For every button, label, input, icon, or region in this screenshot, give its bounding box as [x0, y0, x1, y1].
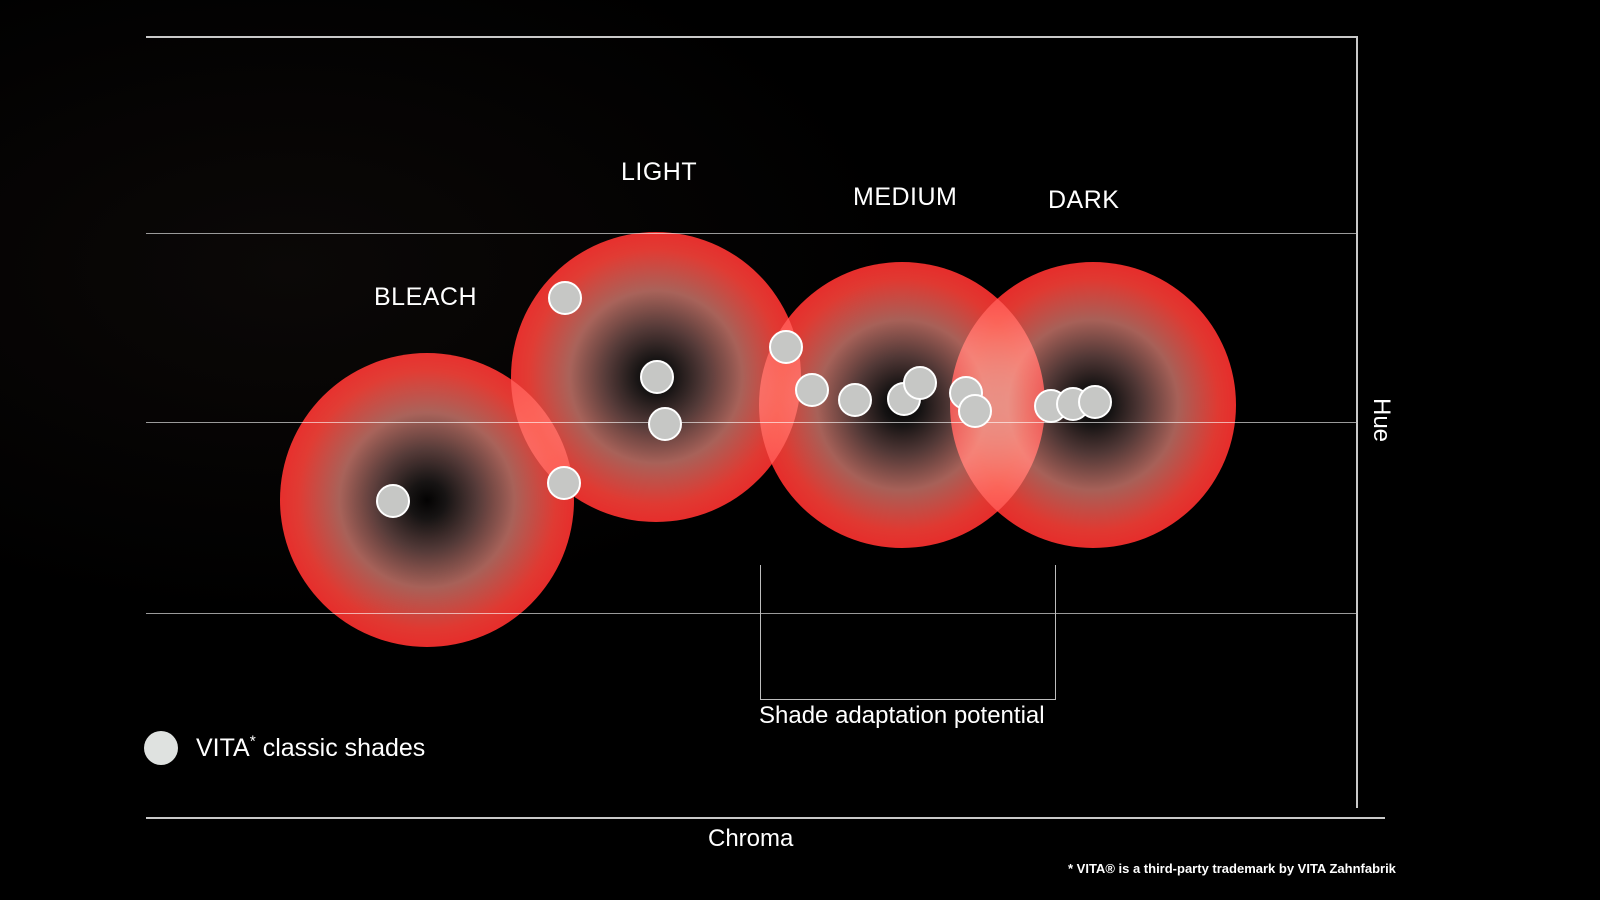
blob-bleach	[280, 353, 574, 647]
legend-label-rest: classic shades	[256, 734, 426, 762]
legend-shade-dot-icon	[144, 731, 178, 765]
shade-dot	[547, 466, 581, 500]
shade-dot	[376, 484, 410, 518]
gridline-upper	[146, 233, 1356, 234]
legend-label: VITA* classic shades	[196, 734, 425, 763]
trademark-footnote: * VITA® is a third-party trademark by VI…	[1068, 861, 1396, 876]
zone-label-medium: MEDIUM	[853, 183, 957, 212]
background-texture	[0, 0, 1600, 900]
shade-dot	[648, 407, 682, 441]
shade-dot	[958, 394, 992, 428]
gridline-middle	[146, 422, 1356, 423]
frame-right-line	[1356, 36, 1358, 808]
zone-label-light: LIGHT	[621, 158, 697, 187]
frame-bottom-line	[146, 817, 1385, 819]
shade-dot	[769, 330, 803, 364]
legend-label-brand: VITA	[196, 734, 250, 762]
y-axis-label: Hue	[1367, 398, 1395, 442]
shade-dot	[903, 366, 937, 400]
x-axis-label: Chroma	[708, 825, 793, 853]
shade-zone-blobs	[0, 0, 1600, 900]
shade-dot	[1078, 385, 1112, 419]
figure-canvas: BLEACH LIGHT MEDIUM DARK Shade adaptatio…	[0, 0, 1600, 900]
shade-dot	[795, 373, 829, 407]
shade-adaptation-bracket	[760, 565, 1056, 700]
shade-adaptation-label: Shade adaptation potential	[759, 702, 1045, 730]
shade-dot	[640, 360, 674, 394]
zone-label-dark: DARK	[1048, 186, 1119, 215]
zone-label-bleach: BLEACH	[374, 283, 477, 312]
legend: VITA* classic shades	[144, 731, 425, 765]
shade-dot	[548, 281, 582, 315]
shade-dot	[838, 383, 872, 417]
gridline-lower	[146, 613, 1356, 614]
frame-top-line	[146, 36, 1358, 38]
